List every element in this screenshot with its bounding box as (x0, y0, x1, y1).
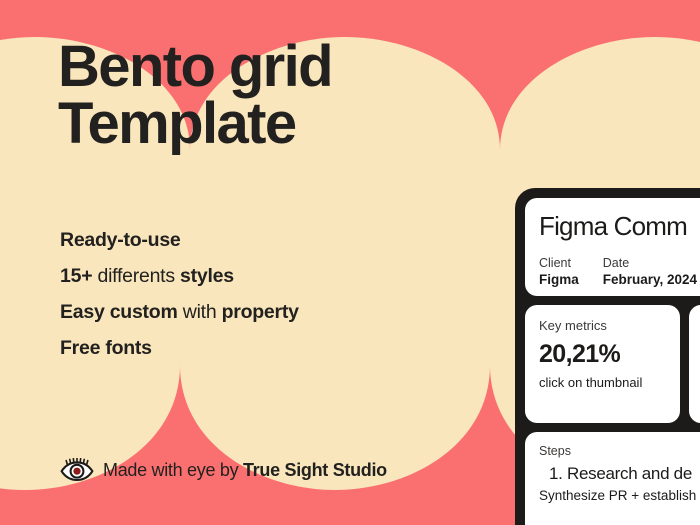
client-label: Client (539, 256, 579, 270)
list-item: Free fonts (60, 330, 299, 366)
date-label: Date (603, 256, 697, 270)
feature-bold-lead: 15+ (60, 265, 92, 287)
feature-bold-tail: property (222, 301, 299, 323)
list-item: Ready-to-use (60, 222, 299, 258)
bento-card-secondary[interactable] (689, 305, 700, 423)
metrics-label: Key metrics (539, 318, 666, 333)
bento-metrics-row: Key metrics 20,21% click on thumbnail (525, 305, 700, 423)
metrics-caption: click on thumbnail (539, 375, 666, 390)
feature-bold-lead: Easy custom (60, 301, 178, 323)
poster-canvas: Bento grid Template Ready-to-use 15+ dif… (0, 0, 700, 525)
list-item: Easy custom with property (60, 294, 299, 330)
credit-bold: True Sight Studio (243, 460, 387, 480)
page-title: Bento grid Template (58, 38, 488, 153)
headline-line-2: Template (58, 95, 488, 152)
date-value: February, 2024 (603, 272, 697, 287)
feature-bold-lead: Ready-to-use (60, 229, 181, 251)
meta-date: Date February, 2024 (603, 256, 697, 287)
bento-card-header[interactable]: Figma Comm Client Figma Date February, 2… (525, 198, 700, 296)
bento-card-steps[interactable]: Steps 1. Research and de Synthesize PR +… (525, 432, 700, 525)
bento-card-frame: Figma Comm Client Figma Date February, 2… (515, 188, 700, 525)
steps-description: Synthesize PR + establish (539, 488, 700, 503)
metrics-value: 20,21% (539, 340, 666, 369)
credit-regular: Made with eye by (103, 460, 243, 480)
bento-card-metrics[interactable]: Key metrics 20,21% click on thumbnail (525, 305, 680, 423)
meta-client: Client Figma (539, 256, 579, 287)
card-title: Figma Comm (539, 211, 700, 242)
card-meta-row: Client Figma Date February, 2024 (539, 256, 700, 287)
client-value: Figma (539, 272, 579, 287)
steps-item: 1. Research and de (539, 464, 700, 484)
list-item: 15+ differents styles (60, 258, 299, 294)
feature-regular-mid: differents (92, 265, 180, 287)
feature-bold-tail: styles (180, 265, 234, 287)
steps-label: Steps (539, 444, 700, 458)
studio-credit: Made with eye by True Sight Studio (60, 458, 387, 482)
eye-icon (60, 458, 94, 482)
credit-text: Made with eye by True Sight Studio (103, 460, 387, 481)
headline-line-1: Bento grid (58, 38, 488, 95)
feature-list: Ready-to-use 15+ differents styles Easy … (60, 222, 299, 366)
feature-regular-mid: with (178, 301, 222, 323)
feature-bold-lead: Free fonts (60, 337, 152, 359)
hero-section: Bento grid Template Ready-to-use 15+ dif… (0, 0, 515, 525)
